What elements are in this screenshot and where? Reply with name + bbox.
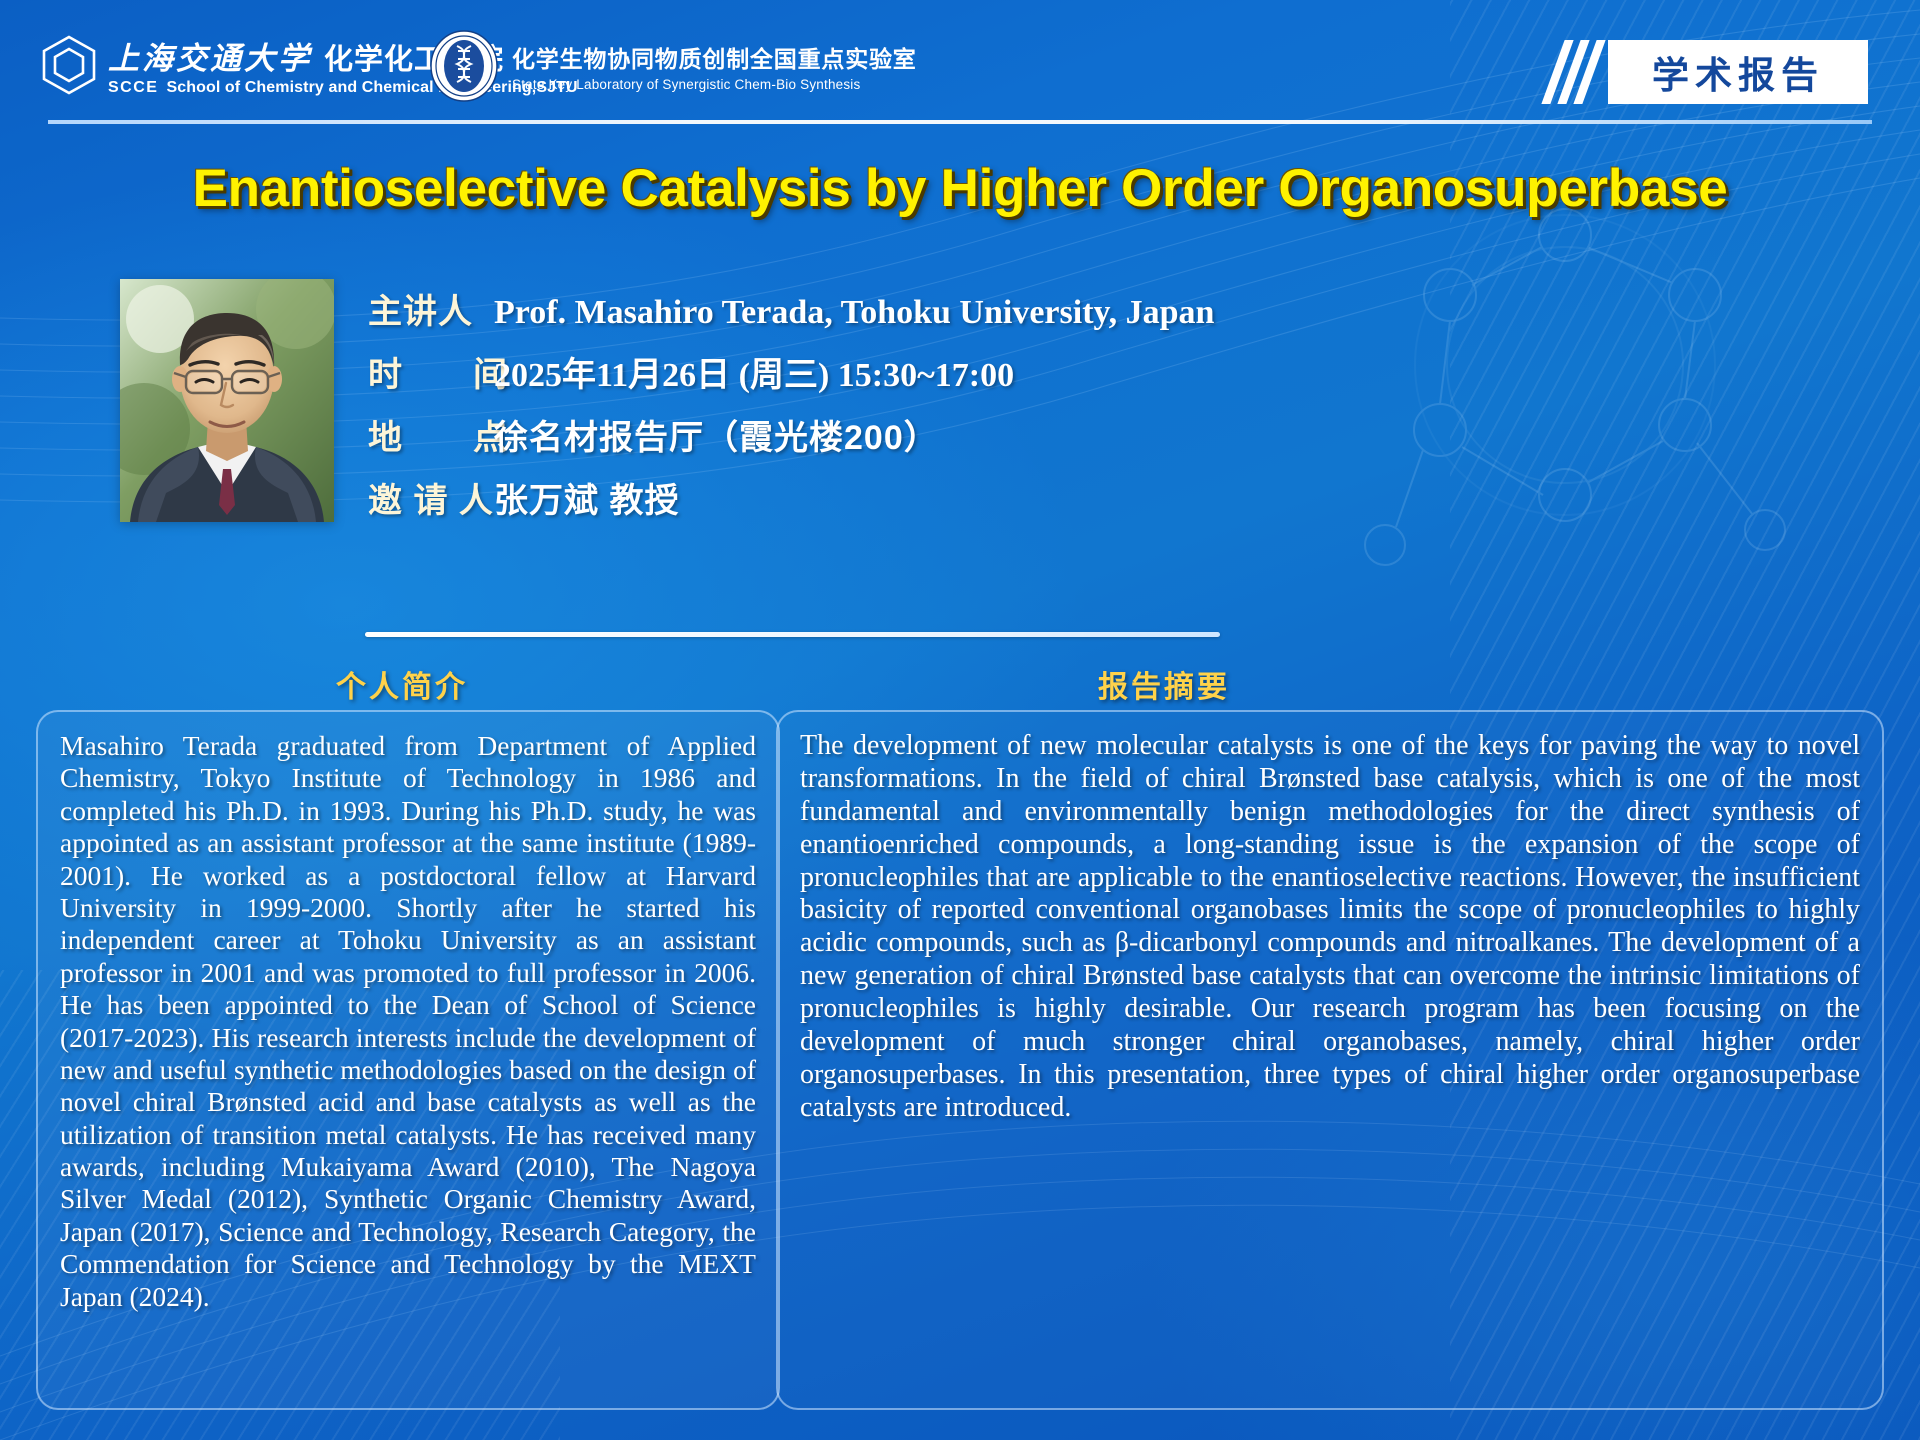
abstract-text: The development of new molecular catalys… [800, 730, 1860, 1125]
info-label-host: 邀 请 人 [368, 473, 488, 522]
bio-panel: Masahiro Terada graduated from Departmen… [36, 710, 780, 1410]
info-value-time: 2025年11月26日 (周三) 15:30~17:00 [488, 347, 1014, 396]
lab-name-cn: 化学生物协同物质创制全国重点实验室 [512, 40, 917, 74]
lab-logo: 化学生物协同物质创制全国重点实验室 State Key Laboratory o… [428, 30, 917, 102]
sjtu-emblem-icon [40, 34, 98, 96]
abstract-section-heading: 报告摘要 [1098, 662, 1230, 706]
info-row-venue: 地 点 徐名材报告厅（霞光楼200） [368, 410, 1568, 459]
abstract-panel: The development of new molecular catalys… [776, 710, 1884, 1410]
info-row-speaker: 主讲人 Prof. Masahiro Terada, Tohoku Univer… [368, 284, 1568, 333]
speaker-portrait [120, 279, 334, 522]
event-info-block: 主讲人 Prof. Masahiro Terada, Tohoku Univer… [368, 284, 1568, 536]
info-value-speaker: Prof. Masahiro Terada, Tohoku University… [488, 294, 1214, 332]
info-label-venue: 地 点 [368, 410, 488, 459]
badge-label: 学术报告 [1608, 40, 1868, 104]
sjtu-abbreviation: SCCE [108, 79, 158, 96]
seminar-poster: 上海交通大学 化学化工学院 SCCESchool of Chemistry an… [0, 0, 1920, 1440]
info-row-host: 邀 请 人 张万斌 教授 [368, 473, 1568, 522]
header-divider [48, 120, 1872, 124]
page-title: Enantioselective Catalysis by Higher Ord… [0, 158, 1920, 219]
poster-header: 上海交通大学 化学化工学院 SCCESchool of Chemistry an… [0, 0, 1920, 132]
info-label-time: 时 间 [368, 347, 488, 396]
sjtu-university-name-cn: 上海交通大学 [108, 33, 312, 78]
bio-text: Masahiro Terada graduated from Departmen… [60, 730, 756, 1313]
info-row-time: 时 间 2025年11月26日 (周三) 15:30~17:00 [368, 347, 1568, 396]
lab-seal-icon [428, 30, 500, 102]
badge-slash-decoration [1553, 40, 1594, 104]
info-label-speaker: 主讲人 [368, 284, 488, 333]
info-value-venue: 徐名材报告厅（霞光楼200） [488, 410, 939, 459]
bio-section-heading: 个人简介 [336, 662, 468, 706]
academic-lecture-badge: 学术报告 [1553, 40, 1868, 104]
info-divider [365, 632, 1220, 637]
lab-name-en: State Key Laboratory of Synergistic Chem… [512, 77, 917, 92]
info-value-host: 张万斌 教授 [488, 473, 679, 522]
